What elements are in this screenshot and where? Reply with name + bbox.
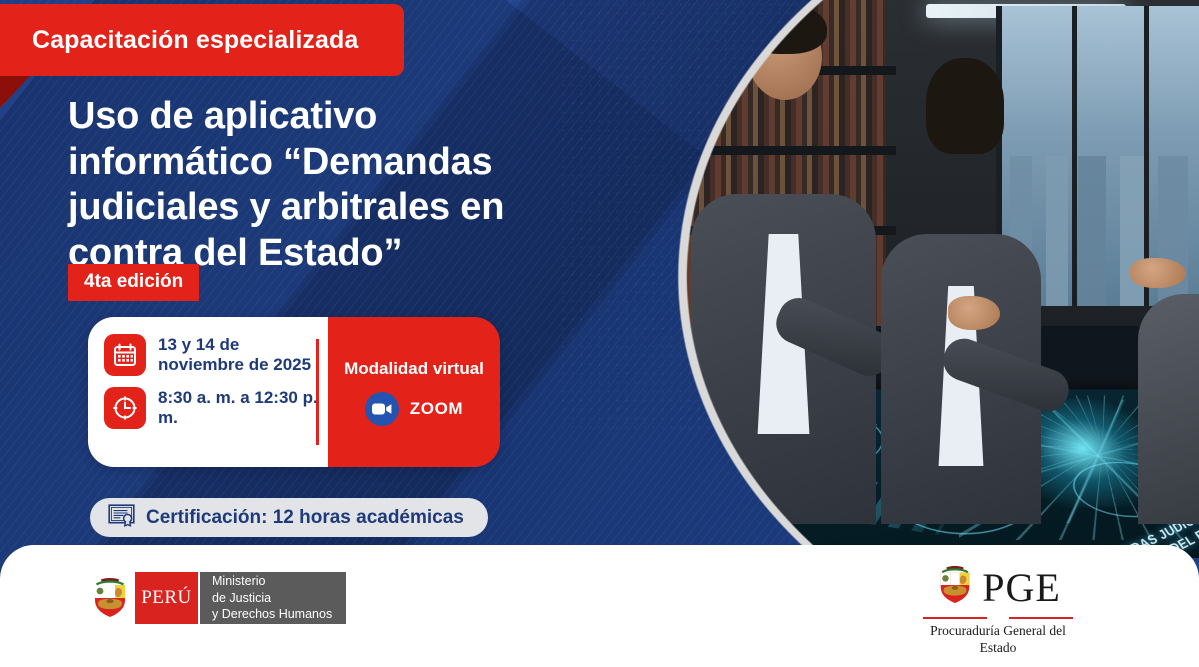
minjus-country-label: PERÚ [135,572,198,624]
minjus-logo: PERÚ Ministerio de Justicia y Derechos H… [85,572,346,624]
person-right-hair [926,58,1004,154]
person-far-right [1138,294,1199,524]
promo-banner: DEMANDAS JUDICIALES EN CONTRA DEL ESTADO [0,0,1199,667]
minjus-ministry-name: Ministerio de Justicia y Derechos Humano… [198,572,346,624]
peru-coat-of-arms-icon [935,563,975,612]
pge-full-name: Procuraduría General del Estado [898,623,1098,657]
person-left [691,194,876,524]
pge-logo: PGE Procuraduría General del Estado [898,563,1098,657]
event-time-text: 8:30 a. m. a 12:30 p. m. [158,388,328,429]
pge-divider [898,617,1098,619]
zoom-platform-row: ZOOM [365,392,463,426]
peru-coat-of-arms-icon [85,572,135,624]
event-time-row: 8:30 a. m. a 12:30 p. m. [104,387,328,429]
edition-badge: 4ta edición [68,264,199,301]
certification-text: Certificación: 12 horas académicas [146,507,464,529]
pge-name-line-2: Estado [898,640,1098,657]
person-right [881,234,1041,524]
pge-name-line-1: Procuraduría General del [898,623,1098,640]
event-info-card: 13 y 14 de noviembre de 2025 8:30 a. m. … [88,317,500,467]
event-modality-panel: Modalidad virtual ZOOM [328,317,500,467]
ribbon-fold [0,76,30,108]
pge-acronym: PGE [982,568,1061,608]
event-date-text: 13 y 14 de noviembre de 2025 [158,335,328,376]
pointing-hand [948,296,1000,330]
calendar-icon [104,334,146,376]
hand-right [1130,258,1186,288]
ribbon-label: Capacitación especializada [32,26,358,55]
clock-icon [104,387,146,429]
ribbon-banner: Capacitación especializada [0,4,404,76]
certification-badge: Certificación: 12 horas académicas [90,498,488,537]
footer-bar: PERÚ Ministerio de Justicia y Derechos H… [0,545,1199,667]
video-camera-icon [365,392,399,426]
event-date-row: 13 y 14 de noviembre de 2025 [104,334,328,376]
modality-label: Modalidad virtual [344,359,484,379]
zoom-label: ZOOM [410,399,463,419]
photo-scene: DEMANDAS JUDICIALES EN CONTRA DEL ESTADO [596,0,1199,558]
minjus-line-1: Ministerio [212,573,332,590]
person-left-hair [743,4,827,54]
event-date-time-panel: 13 y 14 de noviembre de 2025 8:30 a. m. … [88,317,328,467]
minjus-line-2: de Justicia [212,590,332,607]
minjus-line-3: y Derechos Humanos [212,606,332,623]
hero-photo: DEMANDAS JUDICIALES EN CONTRA DEL ESTADO [596,0,1199,558]
certificate-icon [108,504,135,532]
page-title: Uso de aplicativo informático “Demandas … [68,94,568,276]
